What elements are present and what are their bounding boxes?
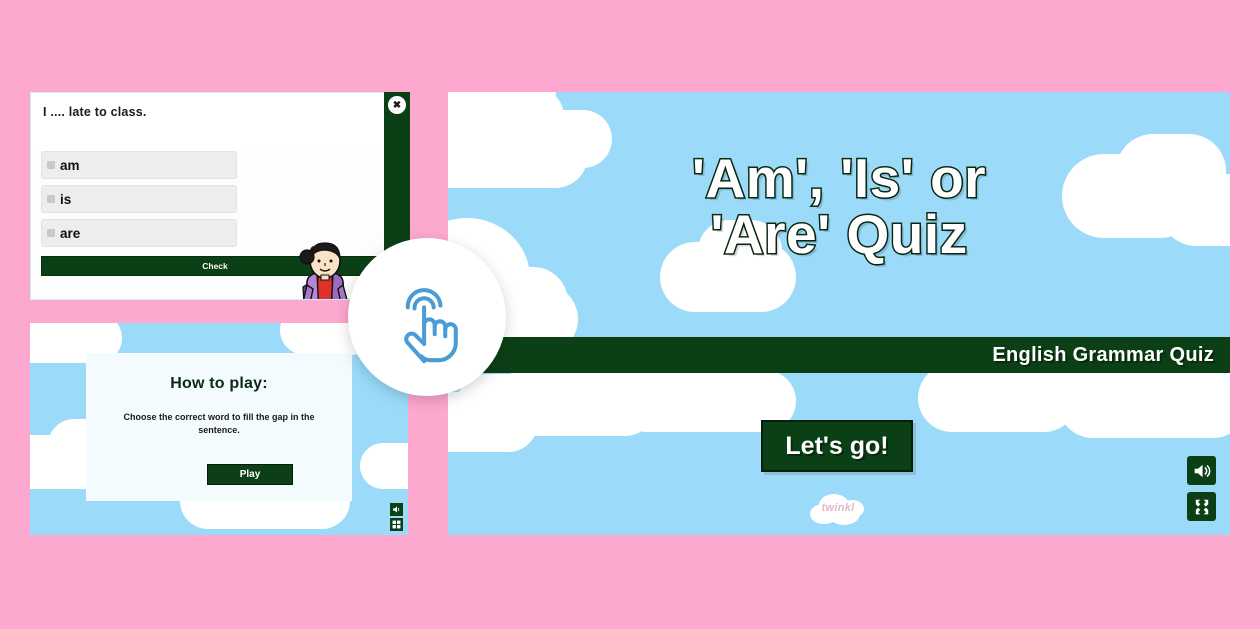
- checkbox-icon[interactable]: [47, 195, 55, 203]
- cloud-decoration: [448, 392, 538, 452]
- quiz-option-is[interactable]: is: [41, 185, 237, 213]
- play-button-label: Play: [240, 469, 261, 480]
- checkbox-icon[interactable]: [47, 229, 55, 237]
- how-to-play-icon-group: [390, 503, 403, 531]
- quiz-question-text: I .... late to class.: [43, 105, 147, 119]
- speaker-icon[interactable]: [1187, 456, 1216, 485]
- main-quiz-title-panel: 'Am', 'Is' or 'Are' Quiz English Grammar…: [448, 92, 1230, 535]
- lets-go-button-label: Let's go!: [785, 432, 888, 461]
- tap-hand-icon: [379, 269, 475, 365]
- subtitle-banner-text: English Grammar Quiz: [992, 344, 1214, 367]
- fullscreen-icon[interactable]: [1187, 492, 1216, 521]
- check-button-label: Check: [202, 261, 228, 271]
- tap-cursor-bubble: [348, 238, 506, 396]
- quiz-question-panel: I .... late to class. am is are Check: [30, 92, 408, 300]
- main-panel-icon-group: [1187, 456, 1216, 521]
- close-icon[interactable]: ✖: [388, 96, 406, 114]
- play-button[interactable]: Play: [207, 464, 293, 485]
- lets-go-button[interactable]: Let's go!: [761, 420, 913, 472]
- quiz-panel-header-background: [31, 93, 407, 151]
- twinkl-logo-text: twinkl: [804, 502, 872, 514]
- page-title-line-1: 'Am', 'Is' or: [692, 147, 986, 209]
- page-title-line-2: 'Are' Quiz: [448, 206, 1230, 262]
- subtitle-banner: English Grammar Quiz: [448, 337, 1230, 373]
- how-to-play-instructions: Choose the correct word to fill the gap …: [122, 411, 316, 437]
- page-title: 'Am', 'Is' or 'Are' Quiz: [448, 150, 1230, 262]
- quiz-option-am[interactable]: am: [41, 151, 237, 179]
- grid-icon[interactable]: [390, 518, 403, 531]
- quiz-option-label: is: [60, 192, 71, 207]
- checkbox-icon[interactable]: [47, 161, 55, 169]
- twinkl-logo: twinkl: [804, 492, 872, 526]
- how-to-play-panel: How to play: Choose the correct word to …: [30, 323, 408, 535]
- quiz-option-are[interactable]: are: [41, 219, 237, 247]
- quiz-panel-sidebar: [384, 92, 410, 260]
- how-to-play-title: How to play:: [30, 375, 408, 393]
- quiz-option-label: are: [60, 226, 80, 241]
- quiz-option-label: am: [60, 158, 80, 173]
- cloud-decoration: [360, 443, 408, 489]
- speaker-icon[interactable]: [390, 503, 403, 516]
